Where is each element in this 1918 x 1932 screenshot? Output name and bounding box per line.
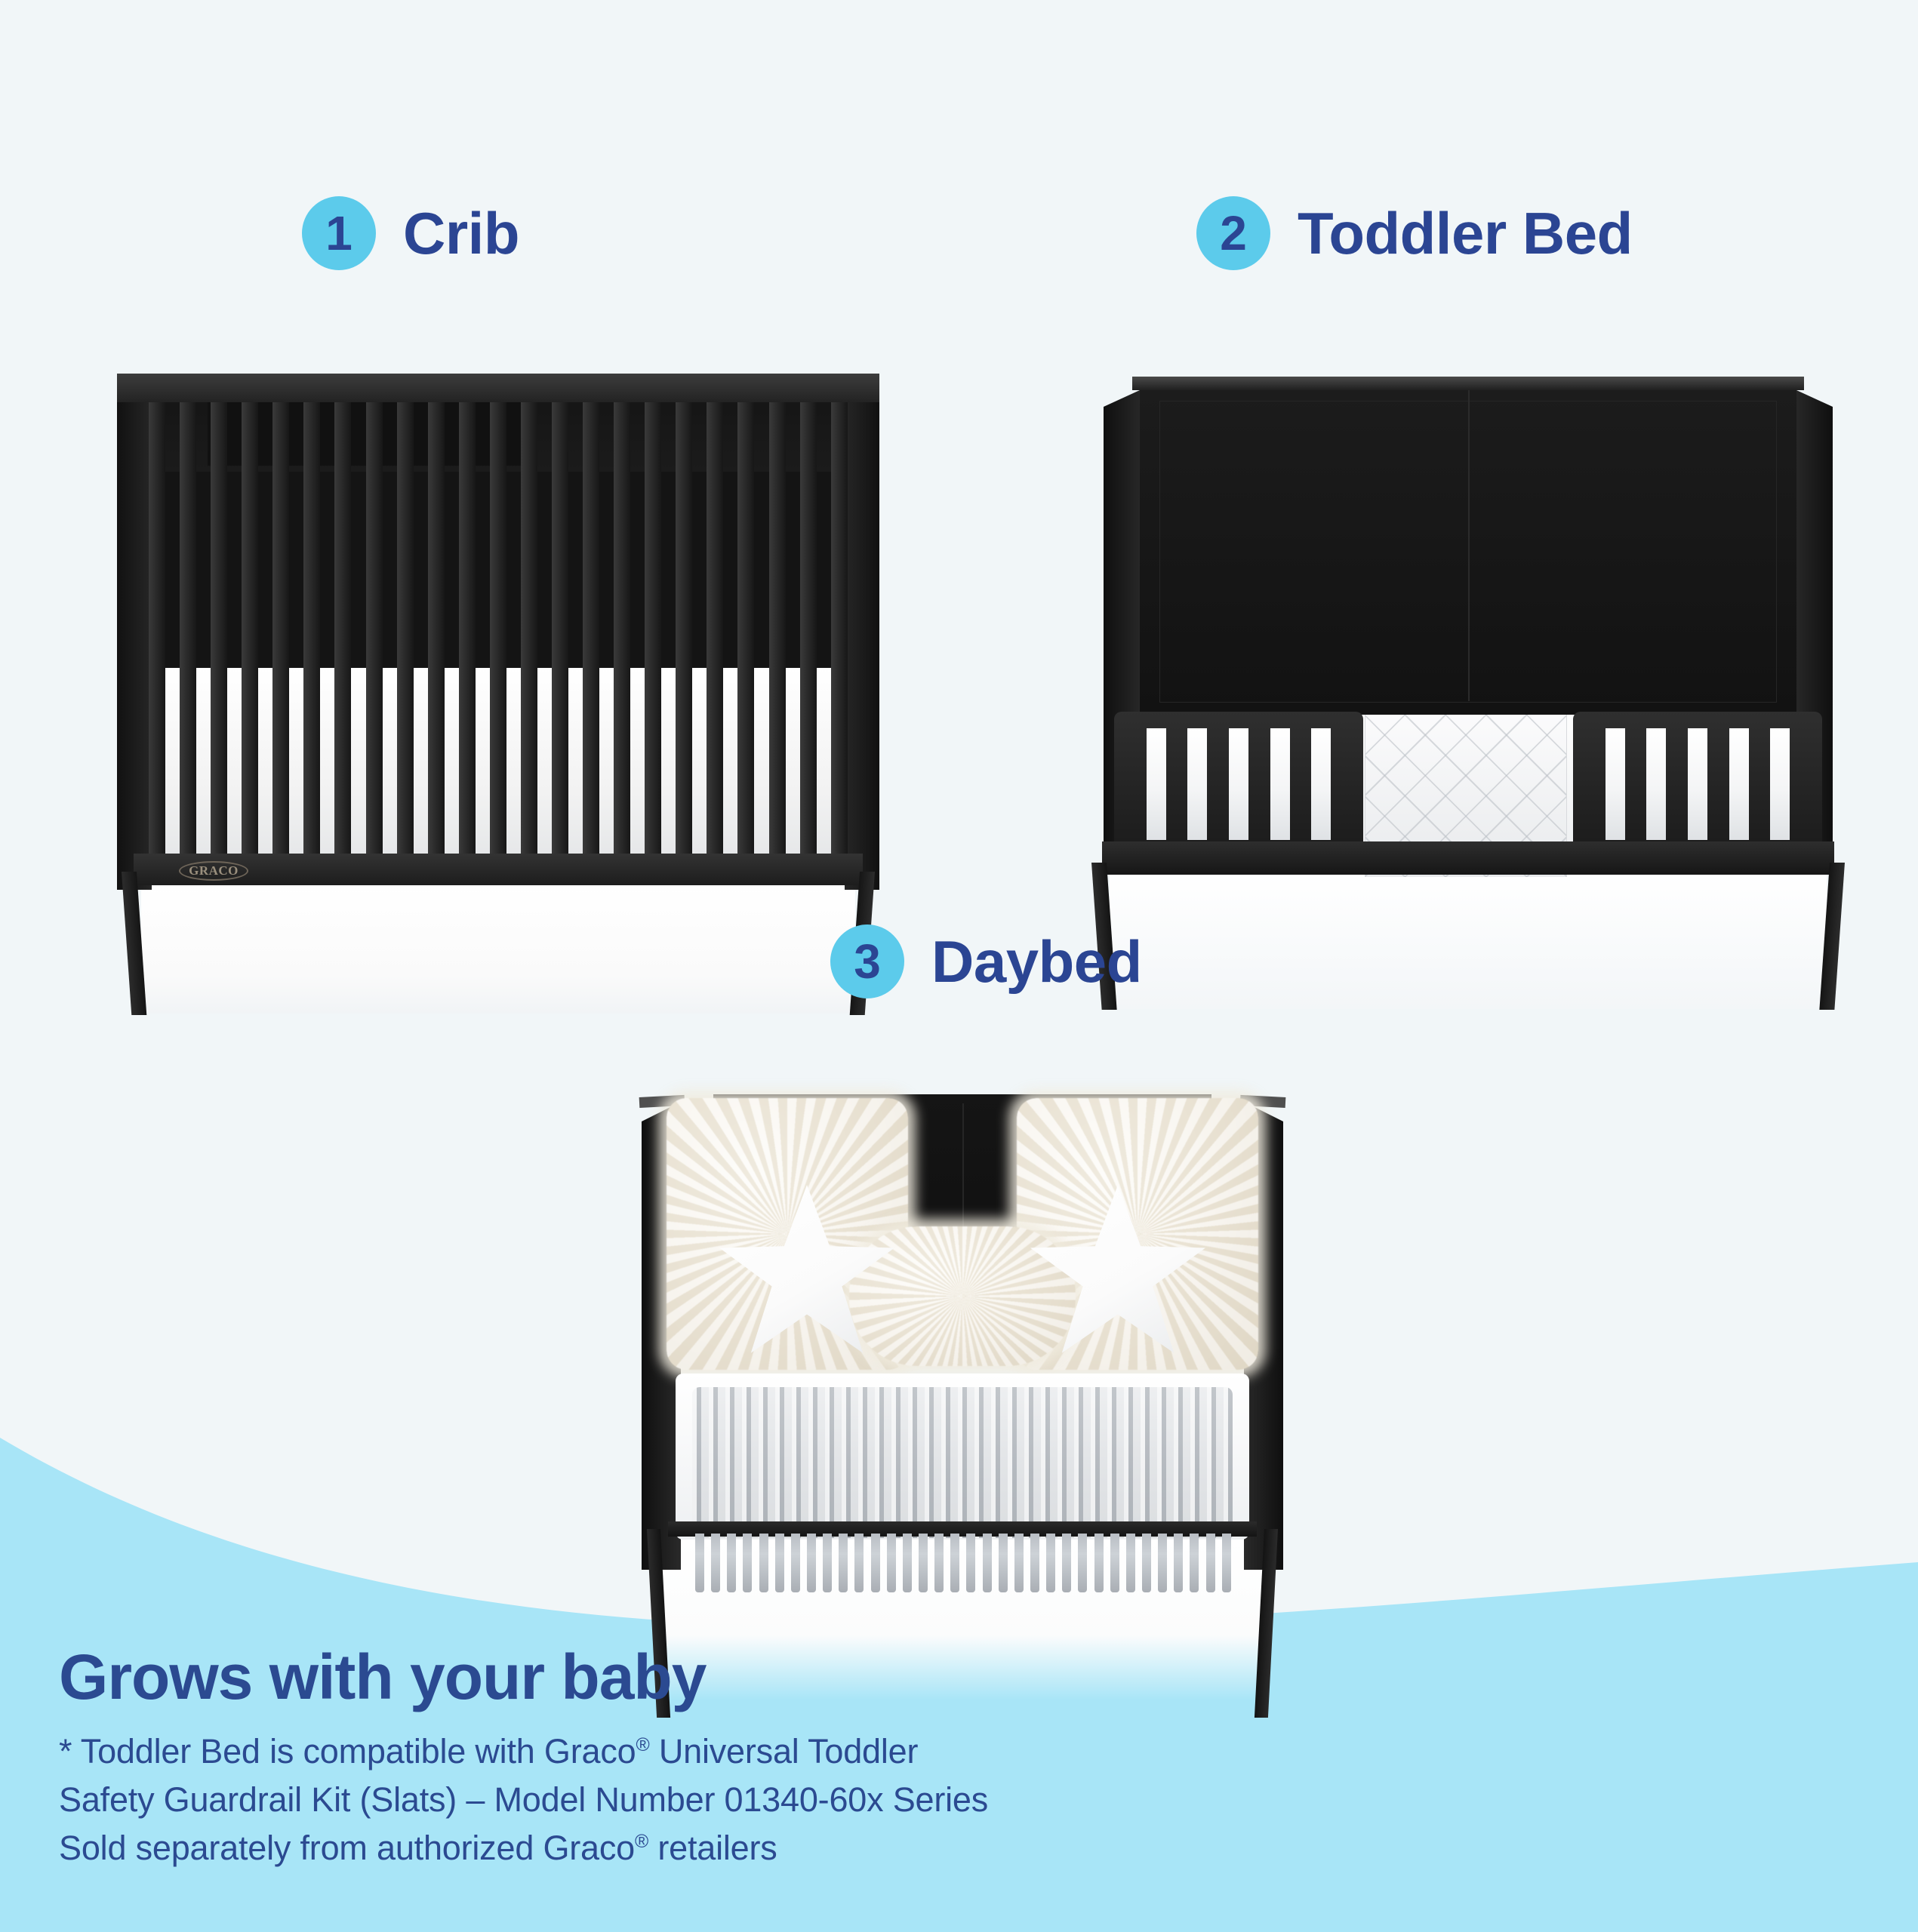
crib-slat-row bbox=[149, 398, 848, 858]
tassel bbox=[1062, 1534, 1071, 1592]
tassel bbox=[919, 1534, 928, 1592]
crib-floor-glow bbox=[141, 884, 855, 1014]
tassel bbox=[950, 1534, 959, 1592]
tassel bbox=[727, 1534, 736, 1592]
tassel bbox=[966, 1534, 975, 1592]
step-title-crib: Crib bbox=[403, 204, 519, 263]
guardrail-slat-gap bbox=[1646, 728, 1666, 840]
crib-slat bbox=[676, 398, 692, 858]
tassel bbox=[711, 1534, 720, 1592]
tassel bbox=[775, 1534, 784, 1592]
tassel bbox=[1222, 1534, 1231, 1592]
tassel bbox=[823, 1534, 832, 1592]
tassel bbox=[1158, 1534, 1167, 1592]
toddler-bed-top-edge bbox=[1132, 377, 1804, 390]
crib-slat bbox=[707, 398, 723, 858]
tassel bbox=[1174, 1534, 1183, 1592]
crib-slat bbox=[366, 398, 383, 858]
guardrail-slat-gap bbox=[1187, 728, 1207, 840]
fineprint-line-3: Sold separately from authorized Graco® r… bbox=[59, 1824, 988, 1872]
guardrail-slat-gap bbox=[1729, 728, 1749, 840]
tassel bbox=[999, 1534, 1008, 1592]
guardrail-slat-gap bbox=[1311, 728, 1331, 840]
tassel bbox=[983, 1534, 992, 1592]
crib-right-panel bbox=[845, 384, 879, 890]
crib-slat bbox=[428, 398, 445, 858]
crib-slat bbox=[303, 398, 320, 858]
faux-fur-bolster-pillow bbox=[849, 1226, 1076, 1366]
crib-slat bbox=[769, 398, 786, 858]
tassel bbox=[871, 1534, 880, 1592]
crib-slat bbox=[800, 398, 817, 858]
tassel bbox=[759, 1534, 768, 1592]
step-header-toddler-bed: 2 Toddler Bed bbox=[1196, 196, 1633, 270]
tassel bbox=[807, 1534, 816, 1592]
crib-slat bbox=[552, 398, 568, 858]
tassel bbox=[695, 1534, 704, 1592]
toddler-bed-back-panel bbox=[1140, 384, 1796, 716]
tassel bbox=[1110, 1534, 1119, 1592]
tassel bbox=[1206, 1534, 1215, 1592]
fineprint: * Toddler Bed is compatible with Graco® … bbox=[59, 1727, 988, 1872]
crib-left-panel bbox=[117, 384, 152, 890]
knit-throw-blanket bbox=[692, 1387, 1233, 1538]
toddler-bed-floor-glow bbox=[1110, 873, 1827, 1009]
step-title-toddler-bed: Toddler Bed bbox=[1298, 204, 1633, 263]
crib-slat bbox=[737, 398, 754, 858]
crib-slat bbox=[831, 398, 848, 858]
crib-slat bbox=[614, 398, 630, 858]
tassel bbox=[791, 1534, 800, 1592]
toddler-bed-right-guardrail bbox=[1573, 712, 1822, 855]
step-badge-1: 1 bbox=[302, 196, 376, 270]
crib-slat bbox=[645, 398, 661, 858]
tassel bbox=[743, 1534, 752, 1592]
fineprint-line-2: Safety Guardrail Kit (Slats) – Model Num… bbox=[59, 1776, 988, 1824]
tassel bbox=[1078, 1534, 1087, 1592]
guardrail-slat-gap bbox=[1770, 728, 1790, 840]
crib-slat bbox=[490, 398, 506, 858]
fineprint-line-1: * Toddler Bed is compatible with Graco® … bbox=[59, 1727, 988, 1776]
crib-slat bbox=[242, 398, 258, 858]
guardrail-slat-gap bbox=[1606, 728, 1625, 840]
guardrail-slat-gap bbox=[1270, 728, 1290, 840]
guardrail-slat-gap bbox=[1147, 728, 1166, 840]
bottom-copy-block: Grows with your baby * Toddler Bed is co… bbox=[59, 1644, 988, 1872]
tassel bbox=[854, 1534, 864, 1592]
crib-slat bbox=[149, 398, 165, 858]
crib-slat bbox=[334, 398, 351, 858]
tassel bbox=[839, 1534, 848, 1592]
tassel bbox=[1126, 1534, 1135, 1592]
throw-tassel-fringe bbox=[695, 1534, 1231, 1592]
crib-slat bbox=[211, 398, 227, 858]
step-header-daybed: 3 Daybed bbox=[830, 924, 1142, 998]
tassel bbox=[934, 1534, 944, 1592]
crib-slat bbox=[397, 398, 414, 858]
guardrail-slat-gap bbox=[1688, 728, 1707, 840]
tassel bbox=[1094, 1534, 1104, 1592]
crib-slat bbox=[180, 398, 196, 858]
tassel bbox=[903, 1534, 912, 1592]
step-badge-2: 2 bbox=[1196, 196, 1270, 270]
tassel bbox=[887, 1534, 896, 1592]
tassel bbox=[1190, 1534, 1199, 1592]
crib-slat bbox=[272, 398, 289, 858]
headline: Grows with your baby bbox=[59, 1644, 988, 1711]
step-badge-3: 3 bbox=[830, 924, 904, 998]
tassel bbox=[1030, 1534, 1039, 1592]
crib-top-rail bbox=[117, 374, 879, 402]
crib-slat bbox=[459, 398, 476, 858]
daybed-illustration bbox=[600, 1072, 1325, 1721]
crib-slat bbox=[521, 398, 537, 858]
toddler-bed-illustration bbox=[1087, 374, 1849, 887]
guardrail-slat-gap bbox=[1229, 728, 1248, 840]
crib-slat bbox=[583, 398, 599, 858]
toddler-bed-left-guardrail bbox=[1114, 712, 1363, 855]
product-feature-graphic: 1 Crib GRACO 2 Toddler Bed 3 bbox=[0, 0, 1918, 1932]
step-title-daybed: Daybed bbox=[931, 932, 1142, 991]
crib-illustration: GRACO bbox=[117, 374, 879, 887]
tassel bbox=[1046, 1534, 1055, 1592]
graco-logo-badge: GRACO bbox=[179, 861, 248, 881]
tassel bbox=[1014, 1534, 1024, 1592]
step-header-crib: 1 Crib bbox=[302, 196, 519, 270]
tassel bbox=[1142, 1534, 1151, 1592]
toddler-bed-bottom-rail bbox=[1102, 841, 1834, 875]
